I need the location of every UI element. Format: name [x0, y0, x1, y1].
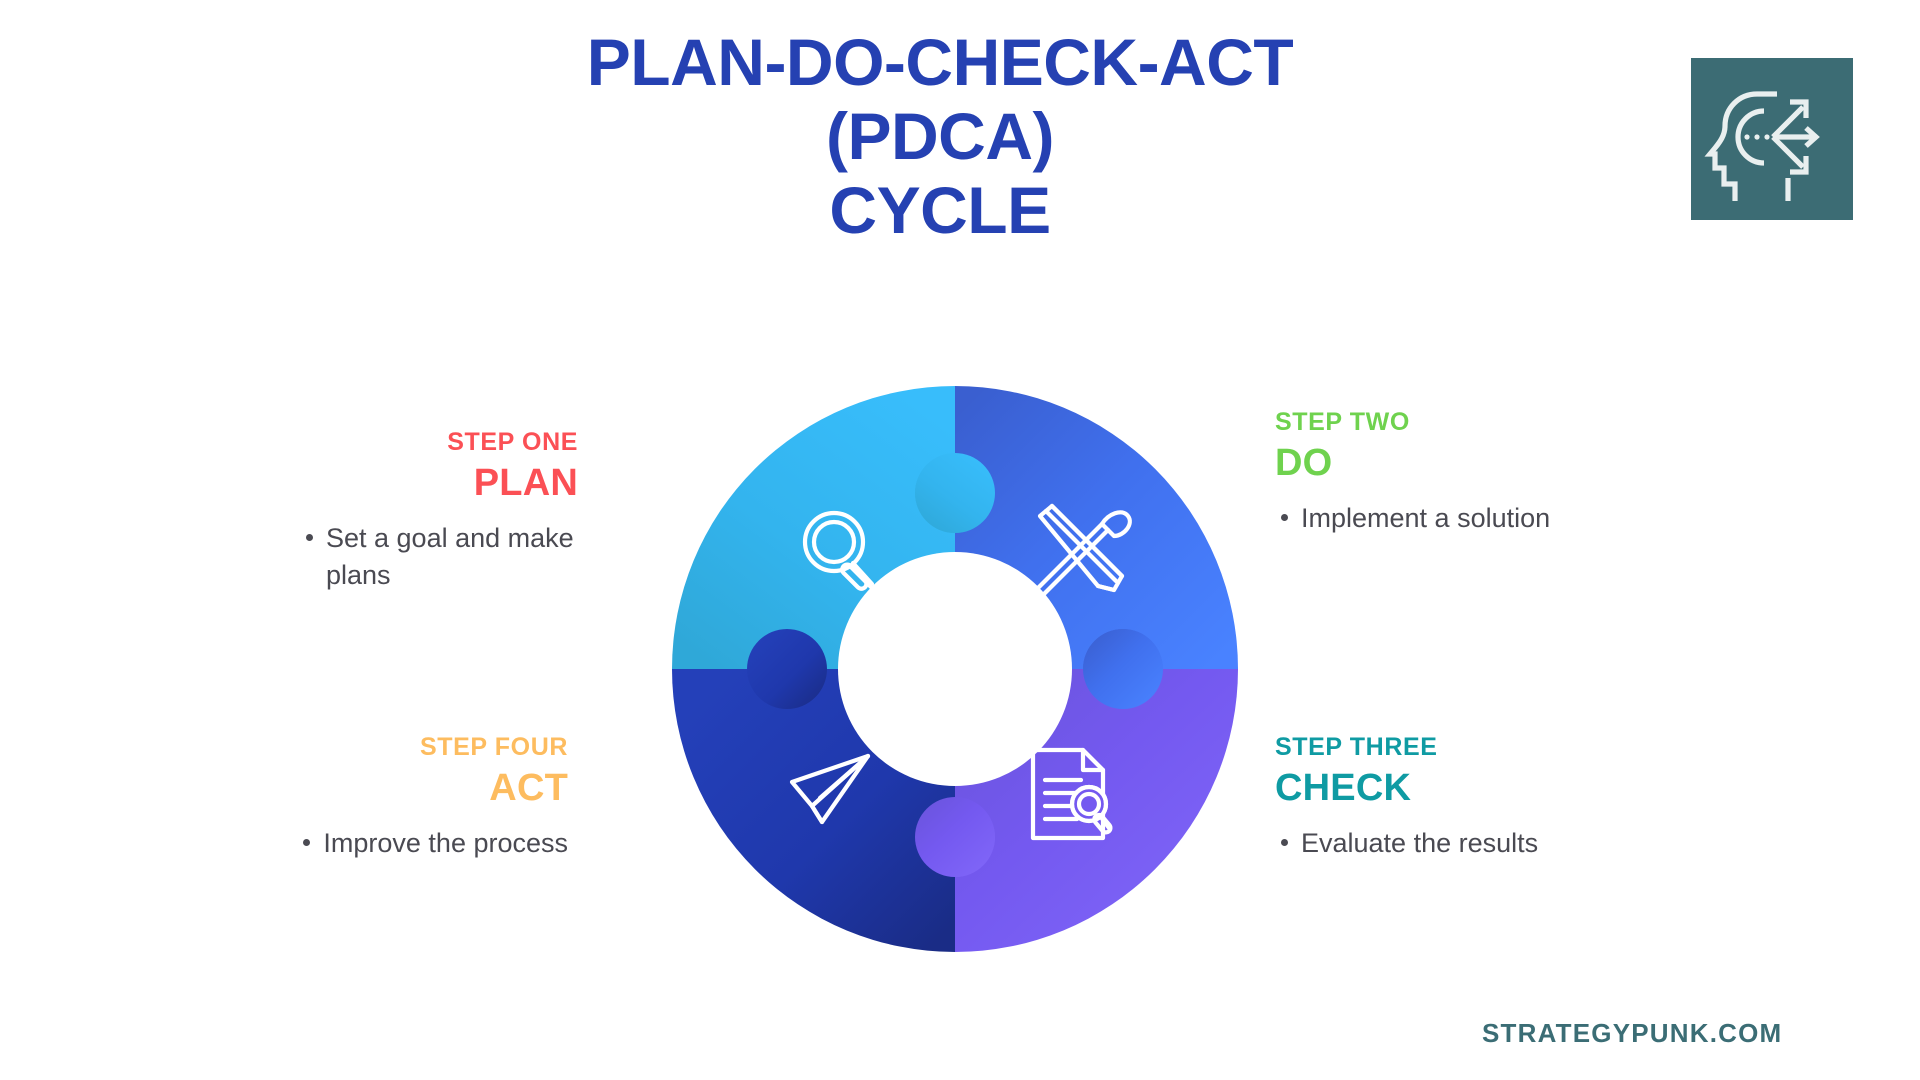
brand-logo [1691, 58, 1853, 220]
list-item: Evaluate the results [1275, 825, 1538, 861]
step-kicker-one: STEP ONE [278, 428, 578, 457]
pdca-cycle-wheel [672, 386, 1238, 952]
list-item: Implement a solution [1275, 500, 1550, 536]
page-title-line-3: CYCLE [420, 174, 1460, 248]
step-title-plan: PLAN [278, 461, 578, 507]
site-watermark: STRATEGYPUNK.COM [1482, 1018, 1782, 1049]
step-title-act: ACT [268, 766, 568, 812]
step-bullets-act: Improve the process [268, 825, 568, 861]
list-item: Set a goal and make plans [300, 520, 578, 592]
page-title: PLAN-DO-CHECK-ACT (PDCA) CYCLE [420, 26, 1460, 248]
step-title-check: CHECK [1275, 766, 1575, 812]
page-title-line-2: (PDCA) [420, 100, 1460, 174]
step-bullets-check: Evaluate the results [1275, 825, 1575, 861]
step-block-do: STEP TWO DO Implement a solution [1275, 408, 1575, 537]
head-with-arrows-icon [1691, 58, 1853, 220]
step-bullets-do: Implement a solution [1275, 500, 1575, 536]
step-block-plan: STEP ONE PLAN Set a goal and make plans [278, 428, 578, 593]
list-item: Improve the process [297, 825, 568, 861]
step-bullets-plan: Set a goal and make plans [278, 520, 578, 592]
step-kicker-three: STEP THREE [1275, 733, 1575, 762]
page-title-line-1: PLAN-DO-CHECK-ACT [420, 26, 1460, 100]
step-kicker-four: STEP FOUR [268, 733, 568, 762]
step-block-act: STEP FOUR ACT Improve the process [268, 733, 568, 862]
wheel-segment-act[interactable] [672, 629, 995, 952]
step-title-do: DO [1275, 441, 1575, 487]
step-kicker-two: STEP TWO [1275, 408, 1575, 437]
step-block-check: STEP THREE CHECK Evaluate the results [1275, 733, 1575, 862]
